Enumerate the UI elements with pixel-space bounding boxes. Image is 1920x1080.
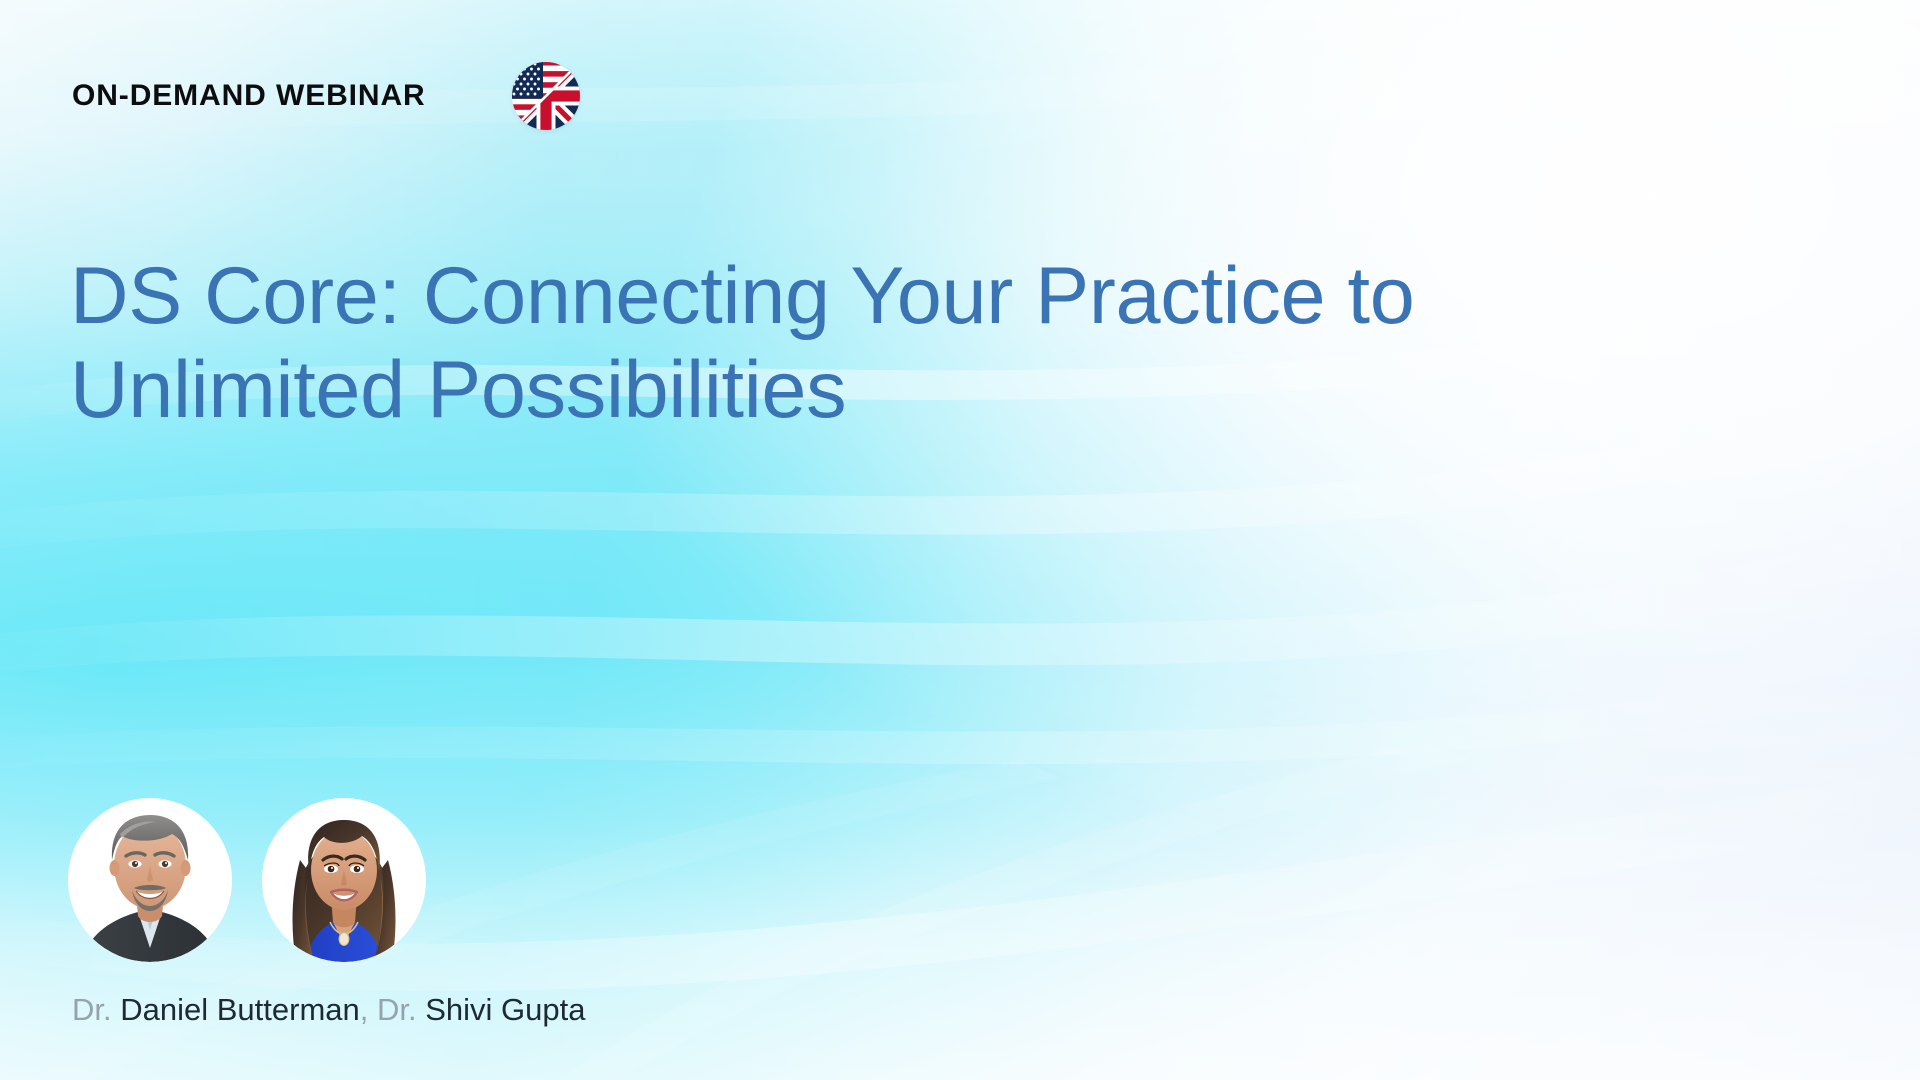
- title-line-2: Unlimited Possibilities: [70, 345, 846, 435]
- byline-separator: ,: [360, 992, 377, 1027]
- speaker-avatar-daniel-butterman: [68, 798, 232, 962]
- speaker-1-name: Daniel Butterman: [120, 992, 360, 1027]
- webinar-title-slide: ON-DEMAND WEBINAR: [0, 0, 1920, 1080]
- eyebrow-label: ON-DEMAND WEBINAR: [72, 81, 426, 111]
- speaker-byline: Dr. Daniel Butterman, Dr. Shivi Gupta: [72, 991, 586, 1028]
- title-line-1: DS Core: Connecting Your Practice to: [70, 251, 1414, 341]
- speaker-1-honorific: Dr.: [72, 992, 112, 1027]
- page-title: DS Core: Connecting Your Practice to Unl…: [70, 250, 1830, 438]
- eyebrow-row: ON-DEMAND WEBINAR: [72, 74, 582, 118]
- us-uk-flag-icon: [510, 60, 582, 132]
- speaker-avatars: [68, 798, 426, 962]
- speaker-avatar-shivi-gupta: [262, 798, 426, 962]
- speaker-2-honorific: Dr.: [377, 992, 417, 1027]
- speaker-2-name: Shivi Gupta: [425, 992, 585, 1027]
